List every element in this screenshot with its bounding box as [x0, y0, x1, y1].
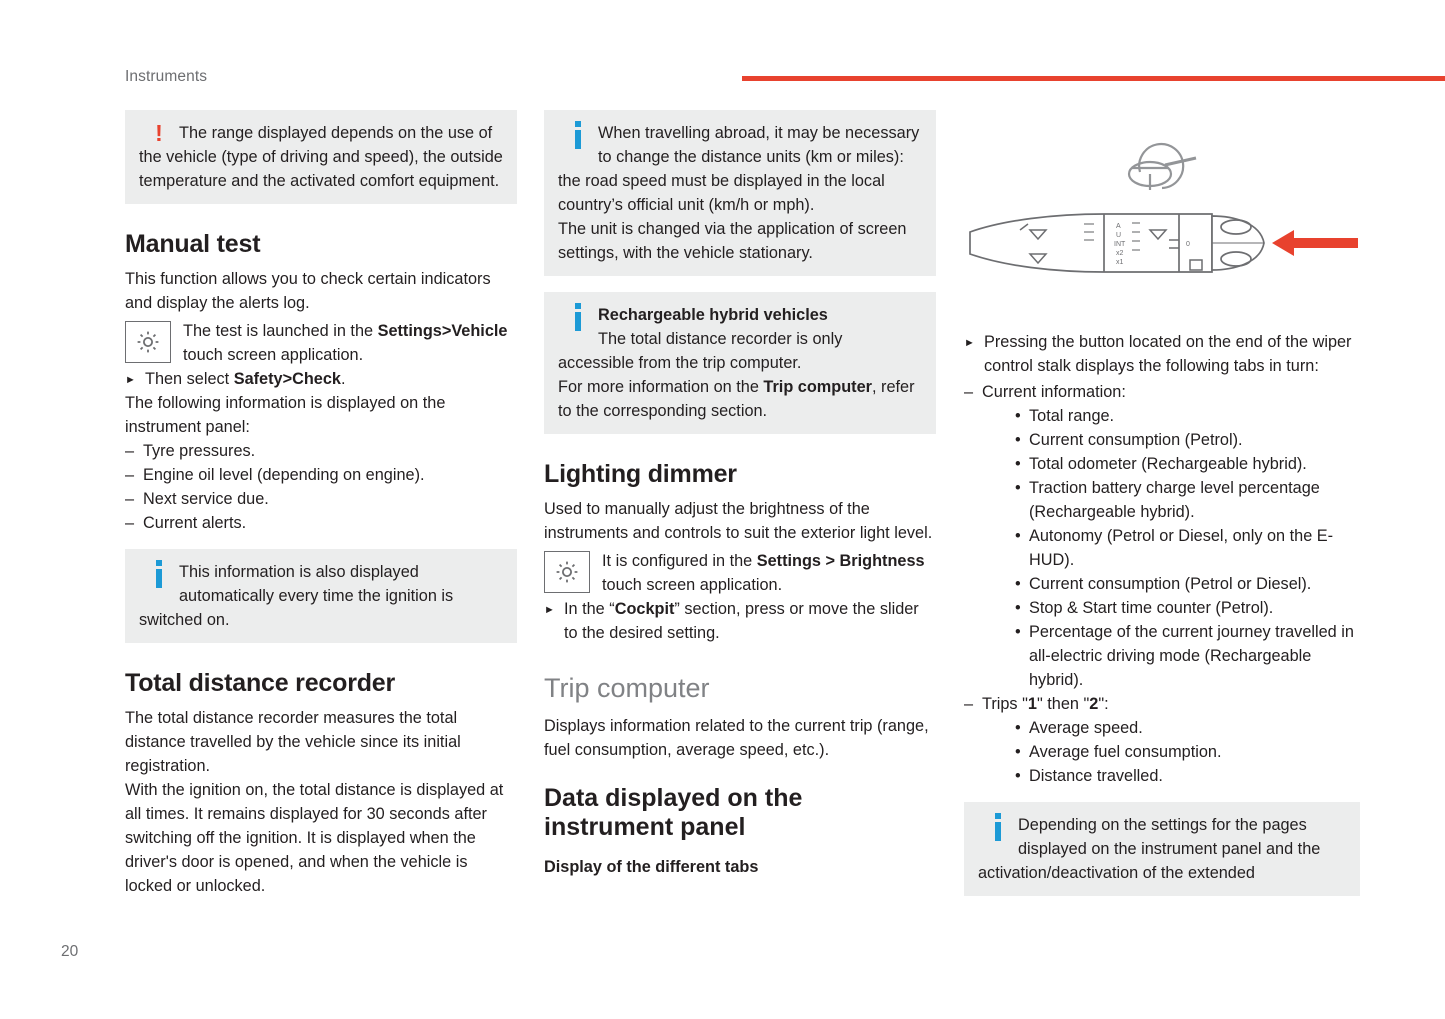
manual-test-settings-text-2: touch screen application. [183, 346, 363, 364]
lighting-dimmer-cockpit-line: In the “Cockpit” section, press or move … [544, 597, 936, 645]
group-current-label: Current information: [982, 383, 1126, 401]
manual-test-select-line: Then select Safety>Check. [125, 367, 517, 391]
list-item: Traction battery charge level percentage… [1011, 476, 1360, 524]
svg-text:x1: x1 [1116, 259, 1124, 266]
lighting-dimmer-settings-line: It is configured in the Settings > Brigh… [544, 549, 936, 597]
callout-auto-text: This information is also displayed autom… [139, 560, 503, 632]
manual-page: Instruments 20 ! The range displayed dep… [0, 0, 1445, 1019]
list-item: Current consumption (Petrol or Diesel). [1011, 572, 1360, 596]
current-information-items: Total range. Current consumption (Petrol… [1011, 404, 1360, 692]
list-item: Tyre pressures. [125, 439, 517, 463]
lighting-dimmer-cockpit-text-1: In the “ [564, 600, 615, 618]
manual-test-select-text-1: Then select [145, 370, 234, 388]
callout-hybrid-text-2a: For more information on the [558, 378, 763, 396]
info-icon [558, 303, 598, 337]
callout-rechargeable-hybrid: Rechargeable hybrid vehicles The total d… [544, 292, 936, 434]
gear-icon [544, 551, 590, 593]
info-icon [139, 560, 179, 594]
callout-settings-text: Depending on the settings for the pages … [978, 813, 1346, 885]
list-item: Autonomy (Petrol or Diesel, only on the … [1011, 524, 1360, 572]
group-trips-label-c: ": [1098, 695, 1108, 713]
callout-range-text: The range displayed depends on the use o… [139, 121, 503, 193]
svg-text:INT: INT [1114, 241, 1126, 248]
callout-hybrid-text-1: The total distance recorder is only acce… [558, 327, 922, 375]
list-item: Next service due. [125, 487, 517, 511]
column-2: When travelling abroad, it may be necess… [544, 110, 936, 880]
red-arrow-pointer [1272, 230, 1358, 256]
lighting-dimmer-settings-text-2: touch screen application. [602, 576, 782, 594]
column-1: ! The range displayed depends on the use… [125, 110, 517, 898]
callout-abroad-text-2: The unit is changed via the application … [558, 217, 922, 265]
group-trips: Trips "1" then "2": Average speed. Avera… [964, 692, 1360, 788]
svg-text:x2: x2 [1116, 250, 1124, 257]
manual-test-select-text-2: . [341, 370, 346, 388]
list-item: Total odometer (Rechargeable hybrid). [1011, 452, 1360, 476]
callout-hybrid-text-2: For more information on the Trip compute… [558, 375, 922, 423]
manual-test-intro: This function allows you to check certai… [125, 267, 517, 315]
total-distance-paragraph-2: With the ignition on, the total distance… [125, 778, 517, 898]
list-item: Average fuel consumption. [1011, 740, 1360, 764]
lighting-dimmer-intro: Used to manually adjust the brightness o… [544, 497, 936, 545]
gear-icon [125, 321, 171, 363]
manual-test-settings-bold: Settings>Vehicle [378, 322, 508, 340]
callout-travelling-abroad: When travelling abroad, it may be necess… [544, 110, 936, 276]
manual-test-item-list: Tyre pressures. Engine oil level (depend… [125, 439, 517, 535]
trips-items: Average speed. Average fuel consumption.… [1011, 716, 1360, 788]
heading-manual-test: Manual test [125, 230, 517, 258]
minihead-display-tabs: Display of the different tabs [544, 856, 936, 878]
total-distance-paragraph-1: The total distance recorder measures the… [125, 706, 517, 778]
info-icon [558, 121, 598, 155]
group-trips-label-a: Trips " [982, 695, 1028, 713]
heading-trip-computer: Trip computer [544, 673, 936, 703]
trip-computer-intro: Displays information related to the curr… [544, 714, 936, 762]
header-rule [742, 76, 1445, 81]
callout-abroad-text-1: When travelling abroad, it may be necess… [558, 121, 922, 217]
list-item: Current alerts. [125, 511, 517, 535]
list-item: Distance travelled. [1011, 764, 1360, 788]
group-trips-label: Trips "1" then "2": [982, 695, 1109, 713]
list-item: Engine oil level (depending on engine). [125, 463, 517, 487]
callout-settings-pages: Depending on the settings for the pages … [964, 802, 1360, 896]
group-trips-label-bold-1: 1 [1028, 695, 1037, 713]
lighting-dimmer-settings-text-1: It is configured in the [602, 552, 757, 570]
list-item: Percentage of the current journey travel… [1011, 620, 1360, 692]
group-current-information: Current information: Total range. Curren… [964, 380, 1360, 692]
lighting-dimmer-cockpit-bold: Cockpit [615, 600, 675, 618]
wiper-button-intro: Pressing the button located on the end o… [964, 330, 1360, 378]
heading-lighting-dimmer: Lighting dimmer [544, 460, 936, 488]
list-item: Average speed. [1011, 716, 1360, 740]
tab-groups-list: Current information: Total range. Curren… [964, 380, 1360, 788]
lighting-dimmer-settings-bold: Settings > Brightness [757, 552, 925, 570]
page-number: 20 [61, 943, 78, 961]
callout-hybrid-text-2-bold: Trip computer [763, 378, 872, 396]
svg-text:U: U [1116, 232, 1121, 239]
manual-test-settings-text-1: The test is launched in the [183, 322, 378, 340]
callout-auto-display: This information is also displayed autom… [125, 549, 517, 643]
manual-test-following-info: The following information is displayed o… [125, 391, 517, 439]
list-item: Current consumption (Petrol). [1011, 428, 1360, 452]
info-icon [978, 813, 1018, 847]
wiper-control-stalk-illustration: A U INT x2 x1 0 [964, 120, 1360, 310]
header-section-label: Instruments [125, 68, 207, 86]
heading-total-distance-recorder: Total distance recorder [125, 669, 517, 697]
callout-hybrid-title-text: Rechargeable hybrid vehicles [598, 306, 828, 324]
steering-wheel-icon [1129, 144, 1196, 190]
list-item: Stop & Start time counter (Petrol). [1011, 596, 1360, 620]
warning-icon: ! [139, 121, 179, 145]
manual-test-settings-line: The test is launched in the Settings>Veh… [125, 319, 517, 367]
svg-text:A: A [1116, 223, 1121, 230]
group-trips-label-b: " then " [1037, 695, 1089, 713]
heading-data-displayed: Data displayed on the instrument panel [544, 784, 936, 842]
list-item: Total range. [1011, 404, 1360, 428]
svg-text:0: 0 [1186, 241, 1190, 248]
callout-range-warning: ! The range displayed depends on the use… [125, 110, 517, 204]
manual-test-select-bold: Safety>Check [234, 370, 341, 388]
group-trips-label-bold-2: 2 [1089, 695, 1098, 713]
column-3: Pressing the button located on the end o… [964, 330, 1360, 904]
callout-hybrid-title: Rechargeable hybrid vehicles [558, 303, 922, 327]
